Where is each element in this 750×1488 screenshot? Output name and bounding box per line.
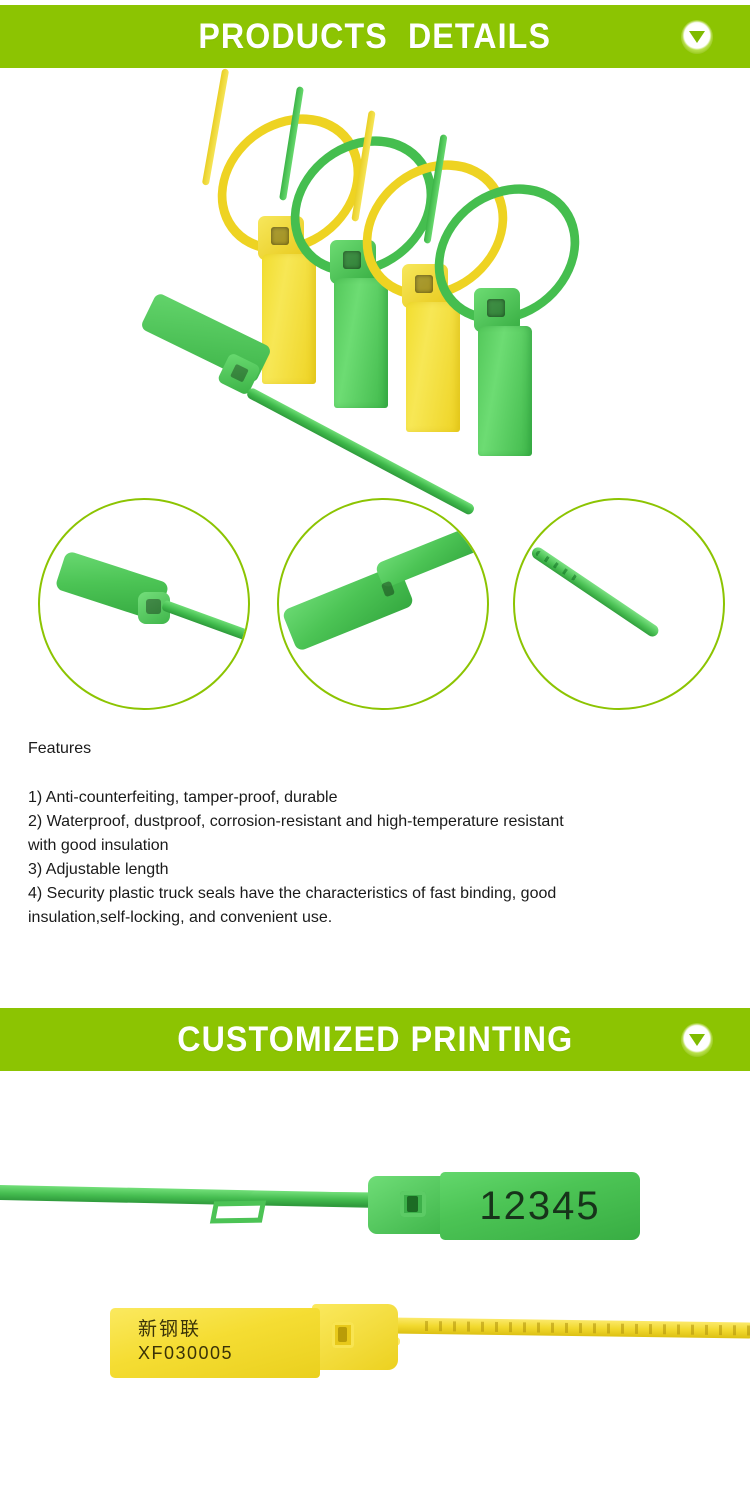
triangle-down-icon[interactable] <box>681 20 713 54</box>
feature-item: 1) Anti-counterfeiting, tamper-proof, du… <box>28 786 728 810</box>
printing-sample-photo: 12345 新钢联 XF030005 <box>0 1072 750 1488</box>
seal-strap <box>385 1317 750 1338</box>
product-photo-seal-group <box>0 68 750 498</box>
seal-lock-hole <box>146 599 161 614</box>
features-heading: Features <box>28 738 728 760</box>
triangle-glyph <box>689 1034 705 1046</box>
section-banner-customized-printing: CUSTOMIZED PRINTING <box>0 1008 750 1071</box>
features-block: Features 1) Anti-counterfeiting, tamper-… <box>28 738 728 930</box>
detail-circle-seal-strap-tip <box>513 498 725 710</box>
seal-strap-tip <box>530 545 661 639</box>
seal-lock-hole <box>332 1322 354 1348</box>
printed-number: 12345 <box>479 1184 600 1229</box>
feature-item: 2) Waterproof, dustproof, corrosion-resi… <box>28 810 728 858</box>
seal-tag-blade: 12345 <box>440 1172 640 1240</box>
seal-lock-head <box>312 1304 398 1370</box>
seal-tag-blade <box>478 326 532 456</box>
detail-circle-row <box>0 490 750 725</box>
seal-tag-blade <box>406 302 460 432</box>
features-list: 1) Anti-counterfeiting, tamper-proof, du… <box>28 786 728 930</box>
seal-tag-blade <box>262 254 316 384</box>
product-detail-page: PRODUCTS DETAILS <box>0 0 750 1488</box>
seal-diamond-tab <box>210 1201 266 1224</box>
triangle-down-icon[interactable] <box>681 1023 713 1057</box>
page-title: CUSTOMIZED PRINTING <box>177 1020 573 1060</box>
seal-strap <box>161 600 250 644</box>
feature-item: 4) Security plastic truck seals have the… <box>28 882 728 930</box>
seal-strap-back <box>374 521 489 589</box>
printed-chinese-text: 新钢联 <box>138 1317 320 1341</box>
detail-circle-seal-head-front <box>38 498 250 710</box>
section-banner-products-details: PRODUCTS DETAILS <box>0 5 750 68</box>
detail-circle-seal-head-back <box>277 498 489 710</box>
seal-tag-blade <box>334 278 388 408</box>
printed-code: XF030005 <box>138 1341 320 1365</box>
feature-item: 3) Adjustable length <box>28 858 728 882</box>
seal-tag-blade: 新钢联 XF030005 <box>110 1308 320 1378</box>
triangle-glyph <box>689 31 705 43</box>
seal-lock-hole <box>400 1191 426 1217</box>
page-title: PRODUCTS DETAILS <box>199 17 552 57</box>
seal-group <box>0 68 750 498</box>
